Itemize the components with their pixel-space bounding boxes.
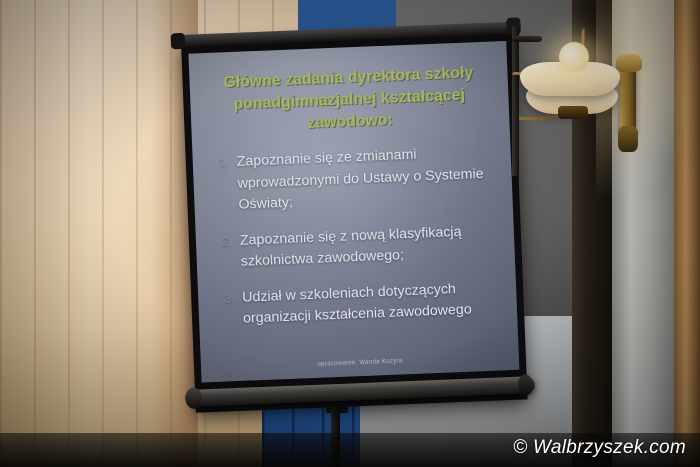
screen-frame: Główne zadania dyrektora szkoły ponadgim…: [181, 30, 528, 413]
screen-canvas: Główne zadania dyrektora szkoły ponadgim…: [188, 41, 519, 382]
wall-edge-warm: [674, 0, 700, 467]
lamp-fitter: [558, 106, 588, 119]
slide-bullet-item: Zapoznanie się z nową klasyfikacją szkol…: [226, 220, 496, 274]
slide-bullet-item: Udział w szkoleniach dotyczących organiz…: [228, 277, 498, 331]
screen-knob-left: [171, 33, 186, 50]
wall-sconce-lamp: [512, 26, 652, 176]
photo-scene: Główne zadania dyrektora szkoły ponadgim…: [0, 0, 700, 467]
sconce-plate-top: [616, 54, 642, 72]
slide-bullet-item: Zapoznanie się ze zmianami wprowadzonymi…: [222, 142, 492, 217]
lamp-bulb: [559, 42, 589, 72]
sconce-wall-plate: [620, 62, 636, 136]
watermark: © Walbrzyszek.com: [513, 437, 686, 459]
projection-screen: Główne zadania dyrektora szkoły ponadgim…: [181, 30, 528, 413]
slide-title: Główne zadania dyrektora szkoły ponadgim…: [205, 62, 493, 139]
slide-credit: opracowanie: Wanda Kozyra: [201, 353, 519, 373]
slide-bullet-list: Zapoznanie się ze zmianami wprowadzonymi…: [208, 142, 501, 332]
presentation-slide: Główne zadania dyrektora szkoły ponadgim…: [188, 41, 519, 382]
sconce-plate-bottom: [618, 126, 638, 152]
